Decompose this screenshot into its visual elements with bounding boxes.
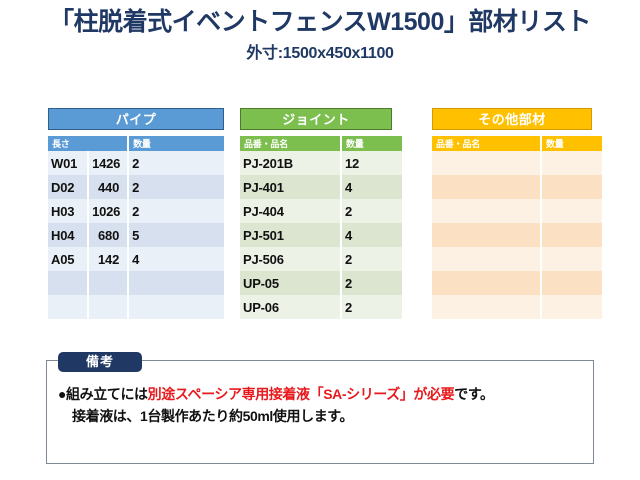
table-row-empty (432, 295, 602, 319)
cell-length: 1026 (88, 199, 128, 223)
table-header-row: 品番・品名 数量 (432, 136, 602, 151)
cell-partname (432, 199, 541, 223)
remarks-line-1: ●組み立てには別途スペーシア専用接着液「SA-シリーズ」が必要です。 (58, 384, 588, 406)
table-row: W01 1426 2 (48, 151, 224, 175)
cell-quantity: 2 (341, 271, 402, 295)
cell-code: H04 (48, 223, 88, 247)
cell-partname: PJ-501 (240, 223, 341, 247)
cell-partname (432, 223, 541, 247)
cell-partname: PJ-201B (240, 151, 341, 175)
table-other-parts-title: その他部材 (432, 108, 592, 130)
cell-quantity: 4 (341, 175, 402, 199)
cell-quantity: 2 (128, 175, 224, 199)
table-row-empty (432, 271, 602, 295)
table-row: PJ-401 4 (240, 175, 402, 199)
table-row: H03 1026 2 (48, 199, 224, 223)
remarks-line1-prefix: ●組み立てには (58, 386, 148, 402)
column-header-quantity: 数量 (128, 136, 224, 151)
table-row-empty (432, 151, 602, 175)
cell-length: 440 (88, 175, 128, 199)
cell-quantity (541, 151, 602, 175)
cell-quantity (541, 175, 602, 199)
cell-code (48, 271, 88, 295)
cell-quantity (541, 199, 602, 223)
table-row-empty (432, 199, 602, 223)
table-row: H04 680 5 (48, 223, 224, 247)
column-header-partname: 品番・品名 (432, 136, 541, 151)
remarks-line-2: 接着液は、1台製作あたり約50ml使用します。 (58, 406, 588, 428)
table-row-empty (432, 247, 602, 271)
table-row: PJ-506 2 (240, 247, 402, 271)
cell-quantity: 2 (341, 199, 402, 223)
page-title: 「柱脱着式イベントフェンスW1500」部材リスト (0, 8, 640, 37)
cell-code: A05 (48, 247, 88, 271)
cell-partname: UP-06 (240, 295, 341, 319)
column-header-quantity: 数量 (541, 136, 602, 151)
cell-quantity: 4 (341, 223, 402, 247)
cell-length: 680 (88, 223, 128, 247)
cell-length: 1426 (88, 151, 128, 175)
cell-quantity (541, 247, 602, 271)
remarks-line1-highlight: 別途スペーシア専用接着液「SA-シリーズ」が必要 (148, 386, 455, 402)
cell-quantity: 5 (128, 223, 224, 247)
cell-quantity: 2 (128, 199, 224, 223)
table-row: UP-06 2 (240, 295, 402, 319)
cell-quantity: 2 (341, 247, 402, 271)
table-pipe: パイプ 長さ 数量 W01 1426 2 D02 440 2 (48, 108, 224, 319)
cell-quantity: 12 (341, 151, 402, 175)
cell-partname (432, 175, 541, 199)
table-row: PJ-501 4 (240, 223, 402, 247)
remarks-line1-suffix: です。 (454, 386, 493, 402)
remarks-content: ●組み立てには別途スペーシア専用接着液「SA-シリーズ」が必要です。 接着液は、… (58, 384, 588, 427)
table-header-row: 品番・品名 数量 (240, 136, 402, 151)
cell-length (88, 271, 128, 295)
document-header: 「柱脱着式イベントフェンスW1500」部材リスト 外寸:1500x450x110… (0, 8, 640, 63)
cell-partname (432, 151, 541, 175)
column-header-quantity: 数量 (341, 136, 402, 151)
table-pipe-grid: 長さ 数量 W01 1426 2 D02 440 2 H03 1026 (48, 136, 224, 319)
table-joint: ジョイント 品番・品名 数量 PJ-201B 12 PJ-401 4 PJ-40… (240, 108, 392, 319)
table-row: PJ-404 2 (240, 199, 402, 223)
table-other-parts: その他部材 品番・品名 数量 (432, 108, 592, 319)
cell-code: D02 (48, 175, 88, 199)
cell-code (48, 295, 88, 319)
cell-partname: PJ-404 (240, 199, 341, 223)
table-header-row: 長さ 数量 (48, 136, 224, 151)
cell-quantity (128, 271, 224, 295)
column-header-partname: 品番・品名 (240, 136, 341, 151)
cell-partname (432, 271, 541, 295)
table-joint-grid: 品番・品名 数量 PJ-201B 12 PJ-401 4 PJ-404 2 (240, 136, 402, 319)
cell-length (88, 295, 128, 319)
table-pipe-title: パイプ (48, 108, 224, 130)
cell-quantity: 4 (128, 247, 224, 271)
cell-code: W01 (48, 151, 88, 175)
cell-partname: PJ-401 (240, 175, 341, 199)
column-header-length: 長さ (48, 136, 128, 151)
table-row: D02 440 2 (48, 175, 224, 199)
cell-code: H03 (48, 199, 88, 223)
parts-tables-container: パイプ 長さ 数量 W01 1426 2 D02 440 2 (0, 108, 640, 340)
table-row-empty (432, 223, 602, 247)
page-subtitle: 外寸:1500x450x1100 (0, 39, 640, 63)
cell-length: 142 (88, 247, 128, 271)
table-row-empty (432, 175, 602, 199)
table-row-empty (48, 295, 224, 319)
cell-partname (432, 295, 541, 319)
cell-quantity (541, 295, 602, 319)
cell-quantity (541, 223, 602, 247)
cell-partname: UP-05 (240, 271, 341, 295)
cell-quantity: 2 (341, 295, 402, 319)
table-joint-title: ジョイント (240, 108, 392, 130)
remarks-label: 備考 (58, 352, 142, 372)
table-row: UP-05 2 (240, 271, 402, 295)
cell-partname: PJ-506 (240, 247, 341, 271)
cell-quantity (541, 271, 602, 295)
table-other-parts-grid: 品番・品名 数量 (432, 136, 602, 319)
table-row: PJ-201B 12 (240, 151, 402, 175)
cell-partname (432, 247, 541, 271)
table-row: A05 142 4 (48, 247, 224, 271)
table-row-empty (48, 271, 224, 295)
cell-quantity (128, 295, 224, 319)
cell-quantity: 2 (128, 151, 224, 175)
